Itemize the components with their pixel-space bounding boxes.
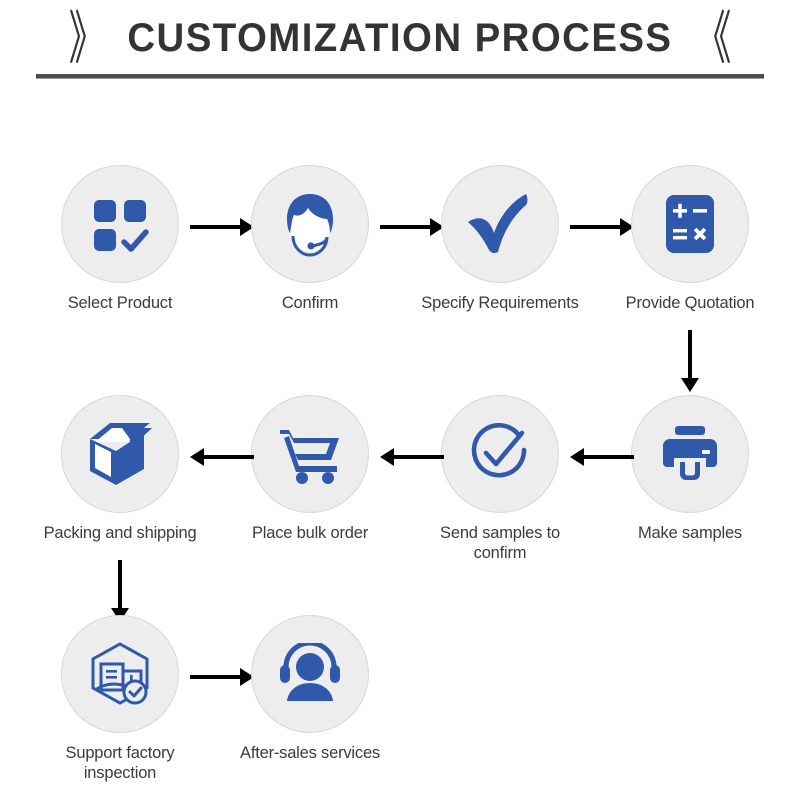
step-label: Packing and shipping xyxy=(40,523,200,543)
step-label: Support factory inspection xyxy=(40,743,200,783)
calculator-icon xyxy=(659,193,721,255)
step-label: Place bulk order xyxy=(230,523,390,543)
checkmark-icon xyxy=(464,188,536,260)
step-icon-circle xyxy=(251,165,369,283)
arrow-step8-to-step9 xyxy=(111,560,129,622)
flow-step-provide-quotation[interactable]: Provide Quotation xyxy=(610,165,770,313)
shopping-cart-icon xyxy=(276,423,344,485)
package-box-icon xyxy=(86,421,154,487)
step-label: Send samples to confirm xyxy=(420,523,580,563)
flow-step-after-sales-services[interactable]: After-sales services xyxy=(230,615,390,763)
printer-icon xyxy=(658,424,722,484)
step-label: Provide Quotation xyxy=(610,293,770,313)
flow-step-support-factory-inspection[interactable]: Support factory inspection xyxy=(40,615,200,783)
flow-step-make-samples[interactable]: Make samples xyxy=(610,395,770,543)
step-label: Make samples xyxy=(610,523,770,543)
step-label: Confirm xyxy=(230,293,390,313)
step-icon-circle xyxy=(61,165,179,283)
step-icon-circle xyxy=(631,165,749,283)
flow-step-send-samples-to-confirm[interactable]: Send samples to confirm xyxy=(420,395,580,563)
step-label: Specify Requirements xyxy=(420,293,580,313)
flow-step-packing-and-shipping[interactable]: Packing and shipping xyxy=(40,395,200,543)
step-label: After-sales services xyxy=(230,743,390,763)
flow-step-select-product[interactable]: Select Product xyxy=(40,165,200,313)
flow-step-specify-requirements[interactable]: Specify Requirements xyxy=(420,165,580,313)
step-icon-circle xyxy=(441,165,559,283)
factory-inspection-icon xyxy=(85,640,155,708)
grid-check-icon xyxy=(88,192,152,256)
step-icon-circle xyxy=(441,395,559,513)
step-icon-circle xyxy=(251,615,369,733)
headset-person-icon xyxy=(276,643,344,705)
support-agent-headset-icon xyxy=(275,189,345,259)
arrow-step4-to-step5 xyxy=(681,330,699,392)
step-icon-circle xyxy=(61,395,179,513)
step-label: Select Product xyxy=(40,293,200,313)
process-flow: Select Product Confirm xyxy=(0,0,800,800)
step-icon-circle xyxy=(61,615,179,733)
step-icon-circle xyxy=(631,395,749,513)
circle-check-icon xyxy=(466,420,534,488)
step-icon-circle xyxy=(251,395,369,513)
flow-step-place-bulk-order[interactable]: Place bulk order xyxy=(230,395,390,543)
flow-step-confirm[interactable]: Confirm xyxy=(230,165,390,313)
